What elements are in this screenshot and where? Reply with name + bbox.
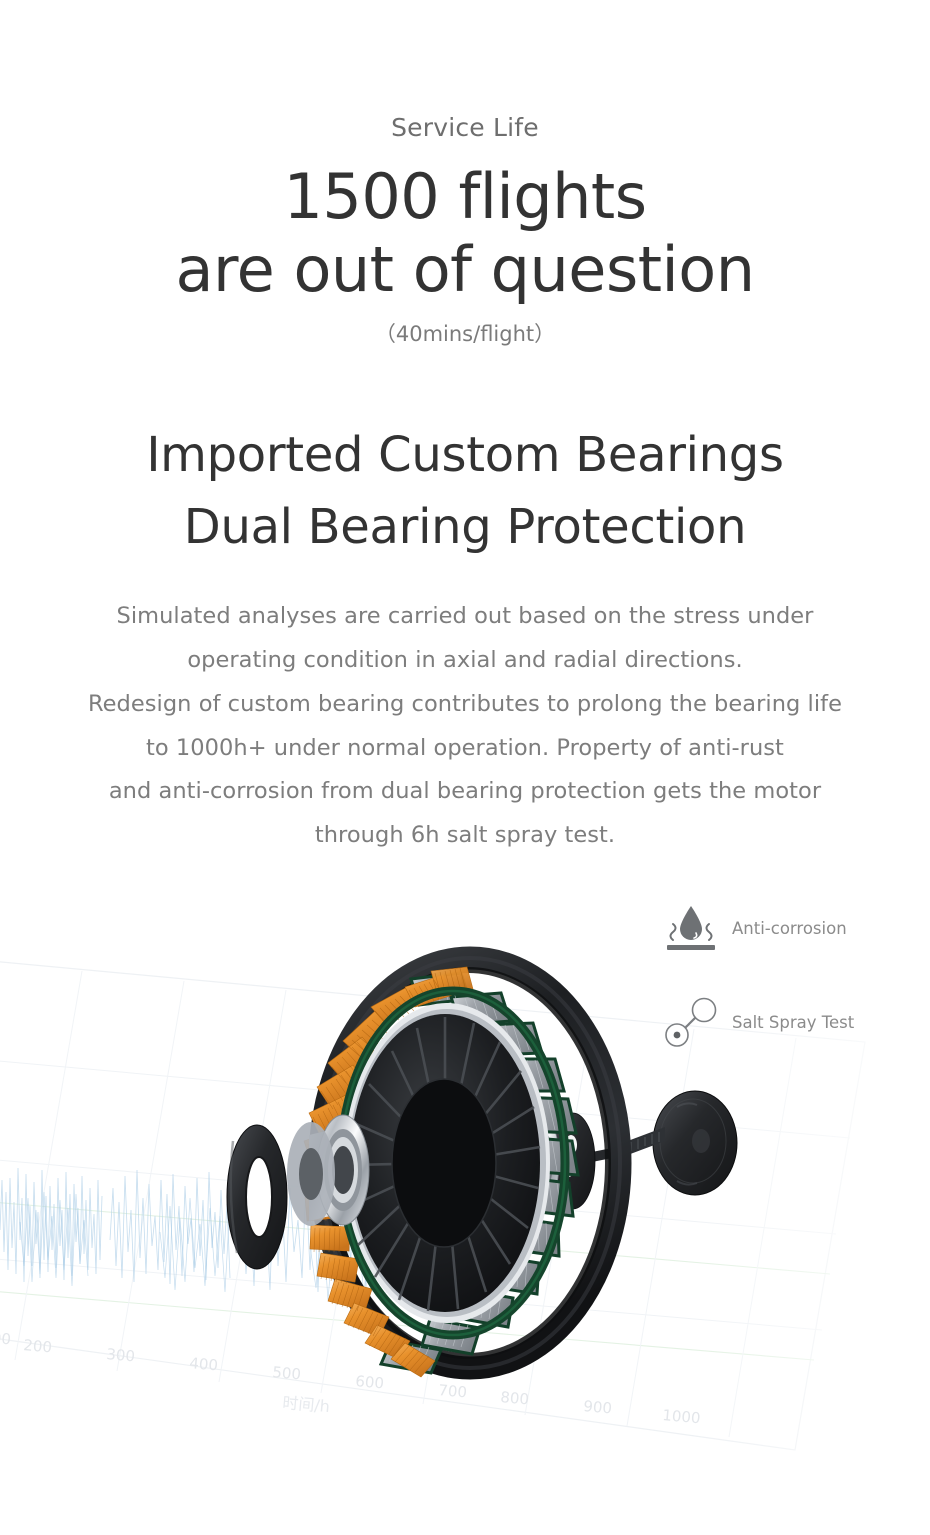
feature-badges: Anti-corrosion Salt Spray Test <box>660 898 890 1054</box>
paragraph-line: Simulated analyses are carried out based… <box>0 595 930 639</box>
paragraph-line: Redesign of custom bearing contributes t… <box>0 683 930 727</box>
svg-text:100: 100 <box>0 1328 12 1348</box>
product-feature-page: 10⁻⁴ 100 200 300 400 500 600 700 800 900… <box>0 0 930 1535</box>
paragraph-line: to 1000h+ under normal operation. Proper… <box>0 727 930 771</box>
paragraph-line: through 6h salt spray test. <box>0 814 930 858</box>
badge-label: Anti-corrosion <box>732 921 847 938</box>
svg-text:300: 300 <box>106 1345 136 1365</box>
salt-spray-nozzle-icon <box>660 994 722 1052</box>
feature-headline-line1: Imported Custom Bearings <box>0 419 930 491</box>
end-cap-disc <box>653 1091 737 1195</box>
svg-text:200: 200 <box>23 1336 53 1356</box>
badge-salt-spray-test: Salt Spray Test <box>660 992 890 1054</box>
hero-headline-line2: are out of question <box>0 230 930 309</box>
paragraph-line: and anti-corrosion from dual bearing pro… <box>0 770 930 814</box>
front-ball-bearing <box>287 1115 369 1226</box>
eyebrow-label: Service Life <box>0 113 930 143</box>
feature-headline-line2: Dual Bearing Protection <box>0 491 930 563</box>
badge-label: Salt Spray Test <box>732 1015 854 1032</box>
flat-washer <box>227 1125 287 1269</box>
badge-anti-corrosion: Anti-corrosion <box>660 898 890 960</box>
hero-subnote: （40mins/flight） <box>0 322 930 347</box>
paragraph-line: operating condition in axial and radial … <box>0 639 930 683</box>
marketing-copy-block: Service Life 1500 flights are out of que… <box>0 0 930 858</box>
feature-paragraph: Simulated analyses are carried out based… <box>0 595 930 858</box>
rotor-hub-vanes <box>344 1003 550 1323</box>
hero-headline-line1: 1500 flights <box>0 157 930 236</box>
water-droplet-corrosion-icon <box>660 900 722 958</box>
svg-text:400: 400 <box>189 1354 219 1374</box>
